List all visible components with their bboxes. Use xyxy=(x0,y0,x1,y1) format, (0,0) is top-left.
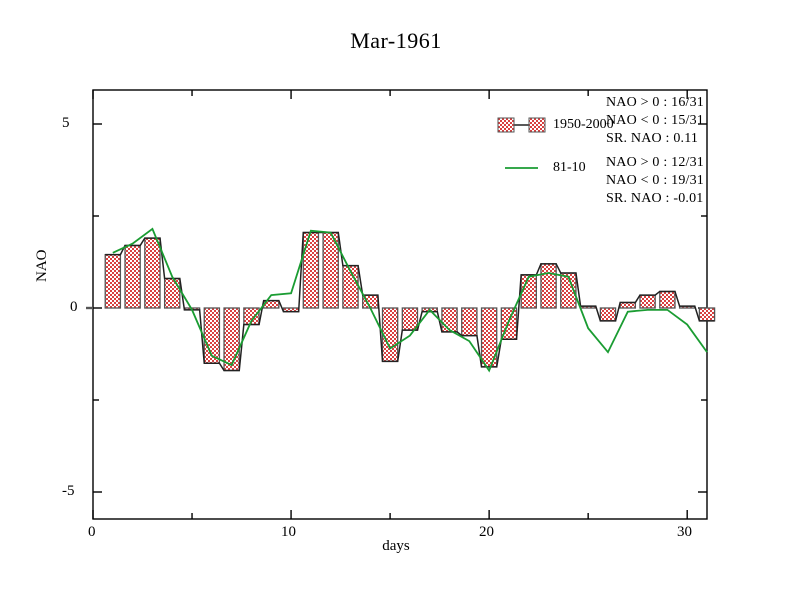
bar xyxy=(462,308,477,336)
stat-nao-negative-1: NAO < 0 : 15/31 xyxy=(606,113,704,129)
bar xyxy=(303,233,318,308)
legend-label-81-10: 81-10 xyxy=(553,160,586,176)
bar xyxy=(521,275,536,308)
bar xyxy=(105,255,120,308)
x-axis-label: days xyxy=(0,538,792,555)
bar xyxy=(165,279,180,308)
bar xyxy=(145,238,160,308)
bar xyxy=(640,295,655,308)
stat-nao-positive-1: NAO > 0 : 16/31 xyxy=(606,95,704,111)
bar xyxy=(699,308,714,321)
bar xyxy=(660,291,675,308)
nao-chart-figure: Mar-1961 xyxy=(0,0,792,612)
line-series-81-10 xyxy=(113,229,707,371)
bar xyxy=(620,302,635,308)
bar-top-connector-line xyxy=(105,233,714,371)
y-axis-label: NAO xyxy=(34,250,51,283)
bar xyxy=(402,308,417,330)
legend-label-1950-2000: 1950-2000 xyxy=(553,117,614,133)
y-tick-label-5: 5 xyxy=(62,115,70,132)
bar xyxy=(125,245,140,308)
bar-series-1950-2000 xyxy=(105,233,714,371)
bar xyxy=(600,308,615,321)
stat-nao-negative-2: NAO < 0 : 19/31 xyxy=(606,173,704,189)
bar xyxy=(224,308,239,371)
y-tick-label-minus5: -5 xyxy=(62,483,75,500)
bar xyxy=(442,308,457,332)
y-tick-label-0: 0 xyxy=(70,299,78,316)
stat-nao-positive-2: NAO > 0 : 12/31 xyxy=(606,155,704,171)
stat-sr-nao-2: SR. NAO : -0.01 xyxy=(606,191,704,207)
legend-swatch-1950-2000 xyxy=(498,118,545,132)
plot-area xyxy=(0,0,792,612)
stat-sr-nao-1: SR. NAO : 0.11 xyxy=(606,131,698,147)
bar xyxy=(541,264,556,308)
bar xyxy=(382,308,397,361)
